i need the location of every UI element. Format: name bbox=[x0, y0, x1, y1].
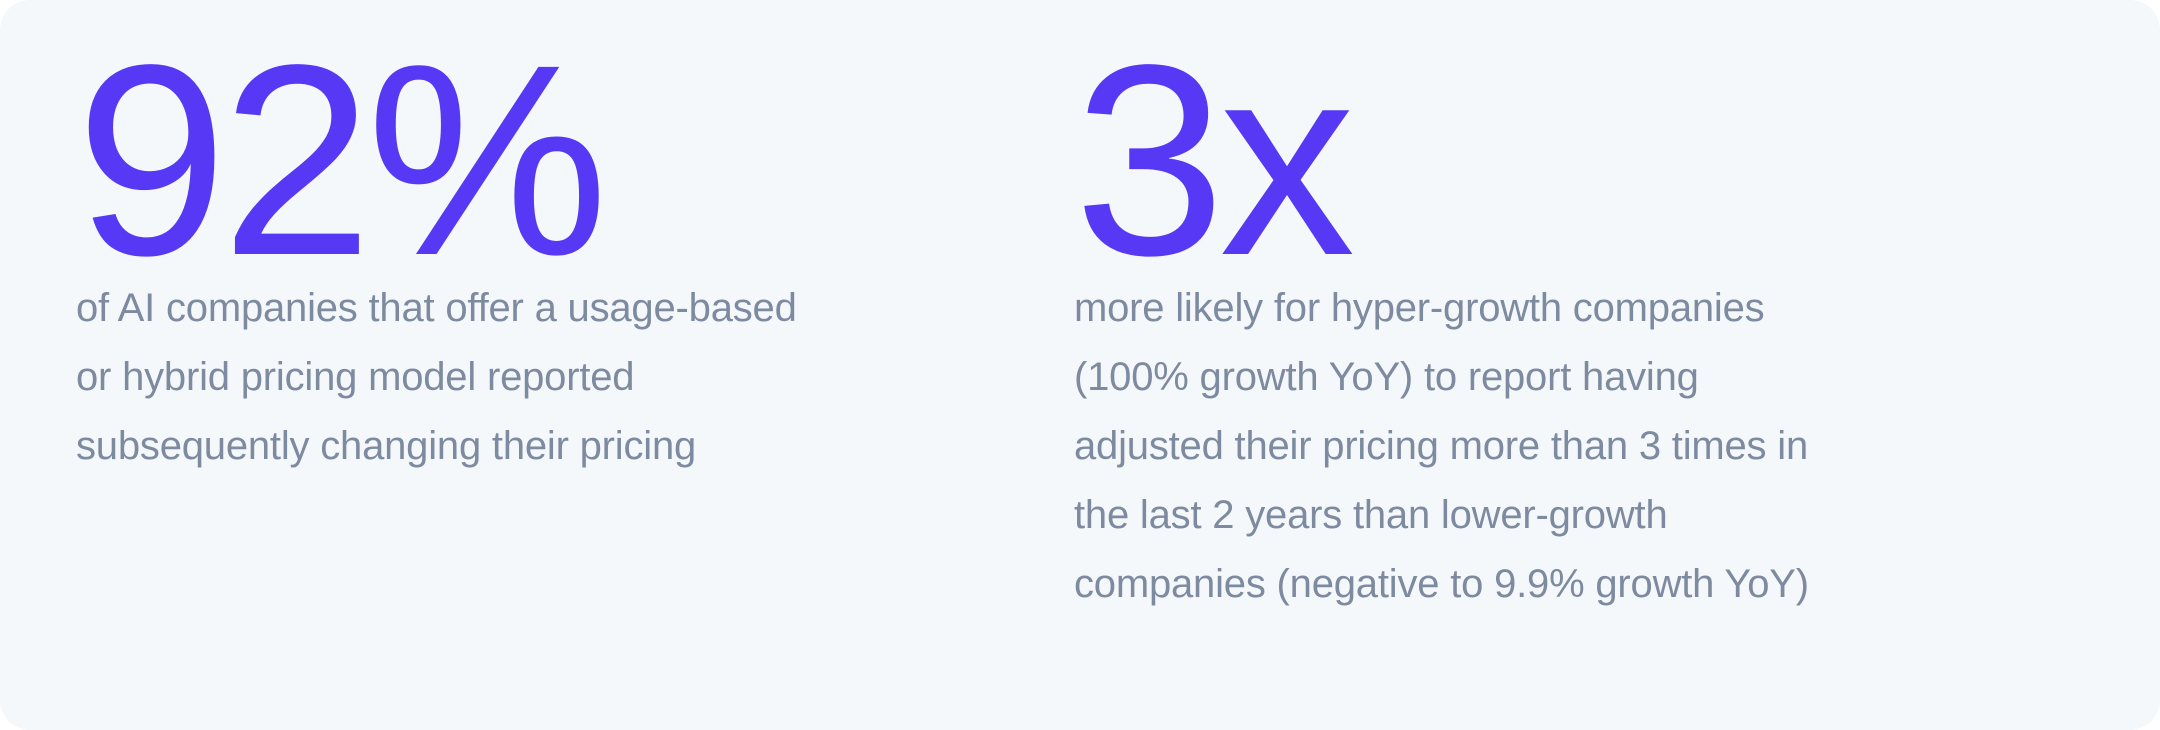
caption-line: companies (negative to 9.9% growth YoY) bbox=[1074, 550, 1794, 619]
caption-line: subsequently changing their pricing bbox=[76, 412, 776, 481]
stat-caption-pricing-changed: of AI companies that offer a usage-based… bbox=[76, 274, 776, 481]
stat-card-pricing-changed: 92% of AI companies that offer a usage-b… bbox=[0, 0, 1060, 481]
stat-figure-3x: 3x bbox=[1074, 24, 1349, 296]
stat-highlight-panel: 92% of AI companies that offer a usage-b… bbox=[0, 0, 2160, 730]
caption-line: adjusted their pricing more than 3 times… bbox=[1074, 412, 1794, 481]
stat-figure-92-percent: 92% bbox=[76, 24, 602, 296]
caption-line: the last 2 years than lower-growth bbox=[1074, 481, 1794, 550]
stat-figure-container-right: 3x bbox=[1074, 24, 1349, 230]
caption-line: of AI companies that offer a usage-based bbox=[76, 274, 776, 343]
stat-caption-hyper-growth: more likely for hyper-growth companies (… bbox=[1074, 274, 1794, 619]
stat-card-hyper-growth-multiplier: 3x more likely for hyper-growth companie… bbox=[1060, 0, 2160, 619]
caption-line: or hybrid pricing model reported bbox=[76, 343, 776, 412]
stat-figure-container-left: 92% bbox=[76, 24, 602, 230]
caption-line: (100% growth YoY) to report having bbox=[1074, 343, 1794, 412]
caption-line: more likely for hyper-growth companies bbox=[1074, 274, 1794, 343]
